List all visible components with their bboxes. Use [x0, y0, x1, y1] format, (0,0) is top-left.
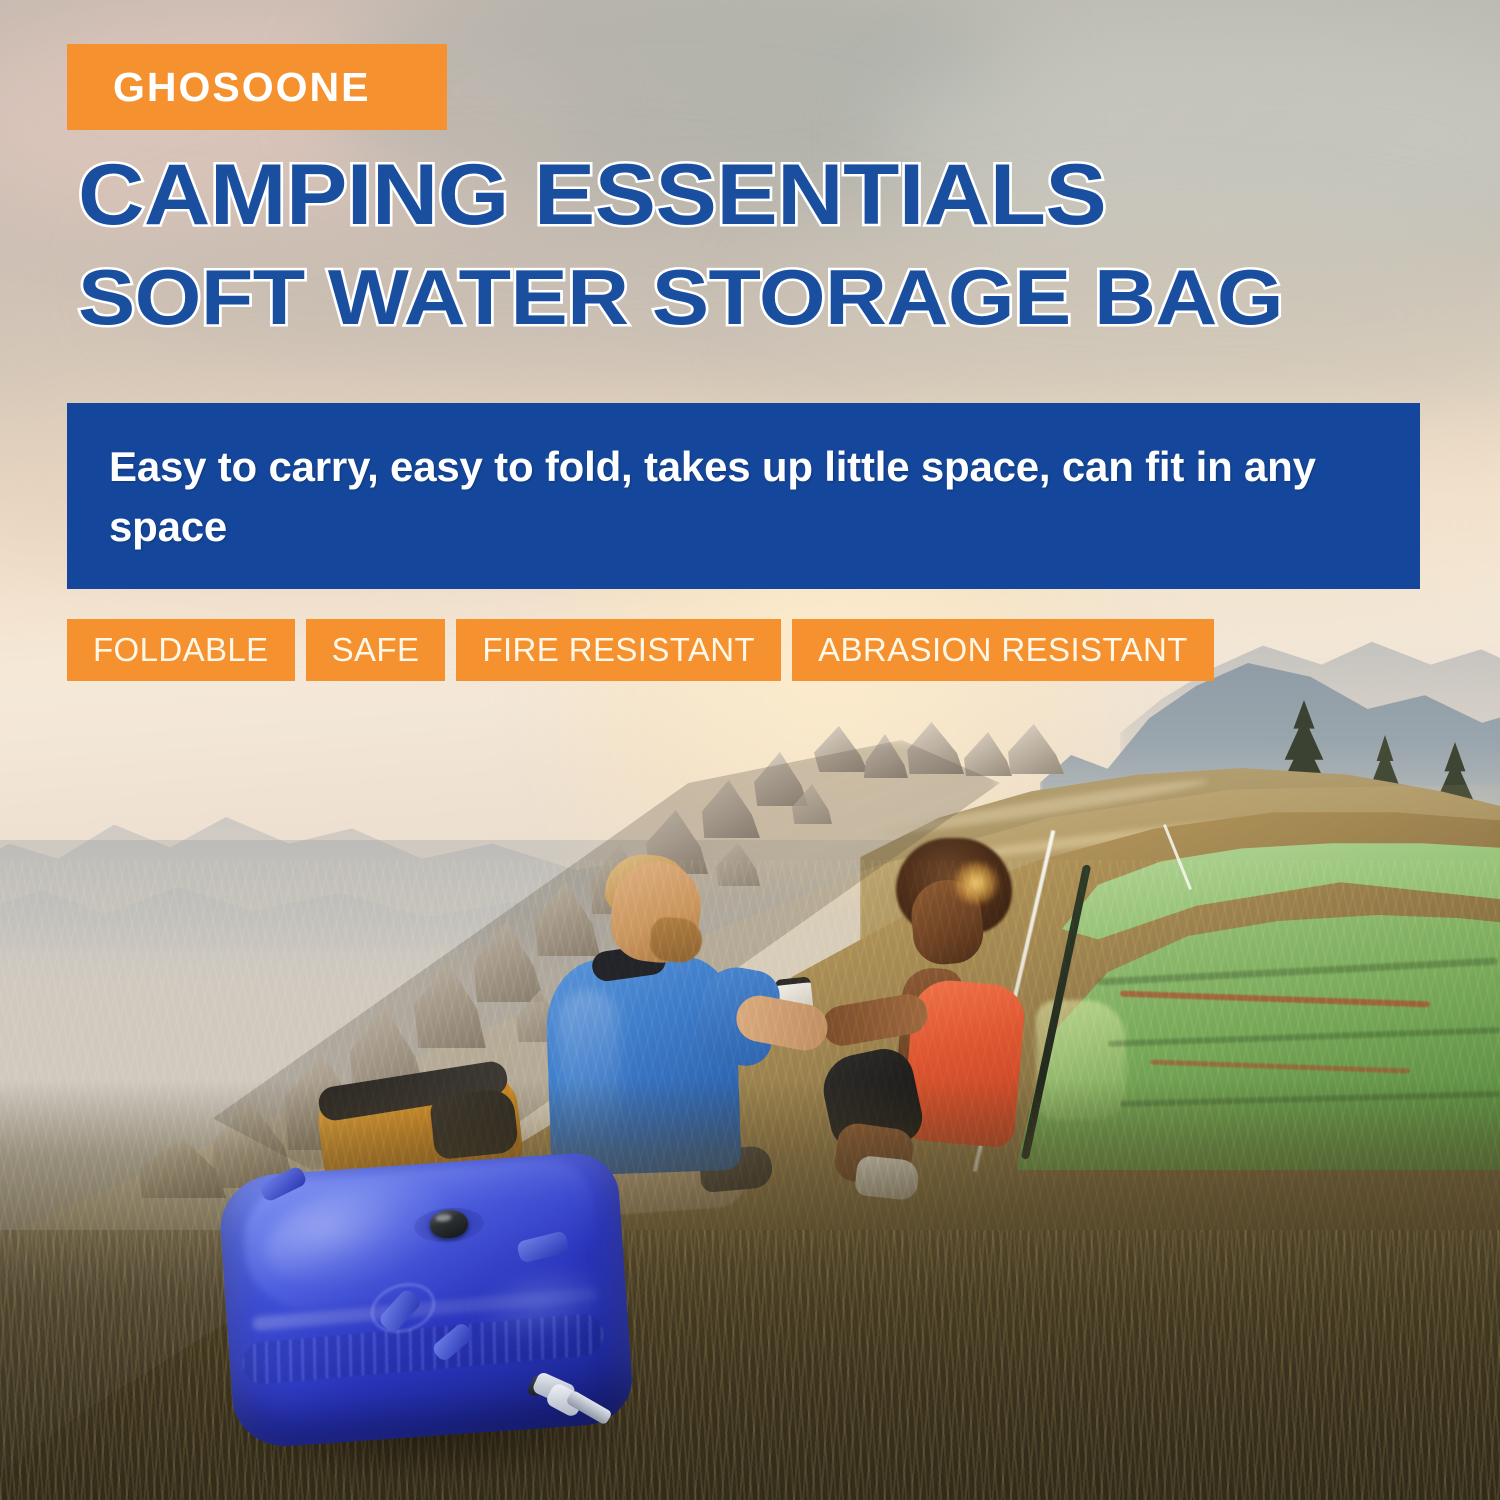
brand-name: GHOSOONE [67, 67, 370, 108]
description-banner: Easy to carry, easy to fold, takes up li… [67, 403, 1420, 589]
feature-tag-label: ABRASION RESISTANT [818, 631, 1188, 669]
feature-tag-label: FIRE RESISTANT [482, 631, 755, 669]
feature-tag-list: FOLDABLE SAFE FIRE RESISTANT ABRASION RE… [67, 619, 1214, 681]
headline-primary: CAMPING ESSENTIALS [78, 152, 1500, 238]
brand-badge: GHOSOONE [67, 44, 447, 130]
product-marketing-banner: GHOSOONE CAMPING ESSENTIALS SOFT WATER S… [0, 0, 1500, 1500]
feature-tag-abrasion-resistant: ABRASION RESISTANT [792, 619, 1214, 681]
feature-tag-safe: SAFE [306, 619, 446, 681]
water-storage-bag-product [218, 1150, 638, 1480]
feature-tag-label: SAFE [332, 631, 420, 669]
feature-tag-label: FOLDABLE [93, 631, 269, 669]
feature-tag-foldable: FOLDABLE [67, 619, 295, 681]
description-text: Easy to carry, easy to fold, takes up li… [109, 437, 1380, 556]
feature-tag-fire-resistant: FIRE RESISTANT [456, 619, 781, 681]
headline-secondary: SOFT WATER STORAGE BAG [78, 258, 1500, 336]
